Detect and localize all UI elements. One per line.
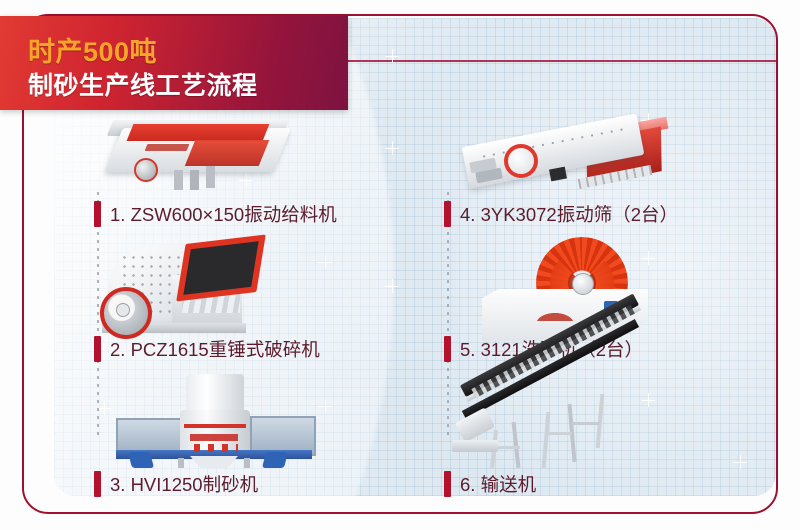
title-banner: 时产500吨 制砂生产线工艺流程 (0, 16, 348, 110)
equipment-label-4: 4. 3YK3072振动筛（2台） (444, 201, 678, 227)
banner-title-line1: 时产500吨 (28, 30, 157, 69)
equipment-item-4[interactable]: 4. 3YK3072振动筛（2台） (444, 100, 784, 235)
equipment-label-2: 2. PCZ1615重锤式破碎机 (94, 336, 320, 362)
vibrating-screen-icon (454, 100, 754, 198)
equipment-label-text: 3. HVI1250制砂机 (110, 471, 258, 497)
equipment-item-2[interactable]: 2. PCZ1615重锤式破碎机 (94, 235, 434, 370)
equipment-label-3: 3. HVI1250制砂机 (94, 471, 258, 497)
equipment-item-6[interactable]: 6. 输送机 (444, 370, 784, 505)
vsi-sand-maker-icon (94, 370, 394, 468)
marker-bar (94, 201, 101, 227)
marker-bar (94, 471, 101, 497)
equipment-label-6: 6. 输送机 (444, 471, 536, 497)
marker-bar (94, 336, 101, 362)
equipment-item-1[interactable]: 1. ZSW600×150振动给料机 (94, 100, 434, 235)
marker-bar (444, 201, 451, 227)
marker-bar (444, 471, 451, 497)
infographic-stage: 1. ZSW600×150振动给料机 2. PCZ1615重锤式破 (0, 0, 800, 530)
banner-title-line2: 制砂生产线工艺流程 (28, 66, 258, 102)
marker-bar (444, 336, 451, 362)
belt-conveyor-icon (452, 370, 752, 468)
equipment-label-text: 1. ZSW600×150振动给料机 (110, 201, 337, 227)
equipment-label-text: 2. PCZ1615重锤式破碎机 (110, 336, 320, 362)
equipment-column-right: 4. 3YK3072振动筛（2台） 5. 3121洗砂机（2台） (444, 100, 784, 505)
equipment-item-3[interactable]: 3. HVI1250制砂机 (94, 370, 434, 505)
hammer-crusher-icon (94, 235, 394, 333)
equipment-label-text: 6. 输送机 (460, 471, 536, 497)
equipment-column-left: 1. ZSW600×150振动给料机 2. PCZ1615重锤式破 (94, 100, 434, 505)
vibrating-feeder-icon (94, 100, 394, 198)
equipment-label-1: 1. ZSW600×150振动给料机 (94, 201, 337, 227)
equipment-label-text: 4. 3YK3072振动筛（2台） (460, 201, 678, 227)
